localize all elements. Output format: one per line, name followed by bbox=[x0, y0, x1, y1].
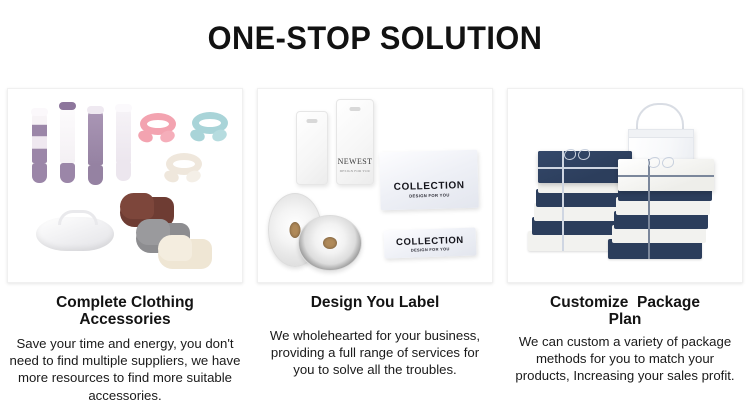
paper-bag-top-fold bbox=[629, 130, 693, 138]
paper-bag-handle bbox=[636, 103, 684, 131]
hang-tag-hole bbox=[307, 119, 318, 123]
cable-knit-sock-icon bbox=[60, 105, 75, 183]
eye-mask-icon bbox=[36, 217, 114, 251]
package-illustration bbox=[508, 89, 742, 282]
caption-title-accessories: Complete Clothing Accessories bbox=[10, 294, 240, 328]
lavender-sock-icon bbox=[116, 107, 131, 181]
white-box-ribbon-vertical bbox=[648, 159, 650, 259]
navy-box-ribbon-vertical bbox=[562, 151, 564, 251]
hang-tag-title: NEWEST bbox=[337, 157, 373, 166]
white-box-ribbon-horizontal bbox=[618, 175, 714, 177]
page-title: ONE-STOP SOLUTION bbox=[15, 18, 735, 58]
label-illustration: NEWEST DESIGN FOR YOU COLLECTION DESIGN … bbox=[258, 89, 492, 282]
caption-title-package: Customize Package Plan bbox=[510, 294, 740, 328]
textured-hang-tag bbox=[296, 111, 328, 185]
photo-card-accessories[interactable] bbox=[7, 88, 243, 283]
caption-body-accessories: Save your time and energy, you don't nee… bbox=[9, 335, 242, 404]
woven-collection-label: COLLECTION DESIGN FOR YOU bbox=[379, 150, 478, 211]
white-box-bow-icon bbox=[648, 157, 674, 168]
hang-tag-subtitle: DESIGN FOR YOU bbox=[337, 169, 373, 173]
hang-tag-hole bbox=[350, 107, 361, 111]
feature-columns: Complete Clothing Accessories Save your … bbox=[6, 88, 744, 404]
caption-body-label: We wholehearted for your business, provi… bbox=[259, 327, 492, 379]
navy-box-bow-icon bbox=[564, 149, 590, 160]
feature-column-label: NEWEST DESIGN FOR YOU COLLECTION DESIGN … bbox=[256, 88, 494, 379]
caption-body-package: We can custom a variety of package metho… bbox=[509, 333, 742, 385]
newest-hang-tag: NEWEST DESIGN FOR YOU bbox=[336, 99, 374, 185]
feature-column-package: Customize Package Plan We can custom a v… bbox=[506, 88, 744, 385]
accessories-illustration bbox=[8, 89, 242, 282]
roll-core bbox=[323, 237, 337, 249]
photo-card-package[interactable] bbox=[507, 88, 743, 283]
purple-knit-sock-icon bbox=[88, 109, 103, 185]
promo-banner: ONE-STOP SOLUTION bbox=[0, 0, 750, 418]
woven-collection-strip: COLLECTION DESIGN FOR YOU bbox=[384, 227, 477, 258]
cream-slipper-icon bbox=[158, 239, 212, 269]
feature-column-accessories: Complete Clothing Accessories Save your … bbox=[6, 88, 244, 404]
striped-sock-icon bbox=[32, 111, 47, 183]
caption-title-label: Design You Label bbox=[260, 294, 490, 311]
care-label-roll-front bbox=[298, 215, 362, 271]
photo-card-label[interactable]: NEWEST DESIGN FOR YOU COLLECTION DESIGN … bbox=[257, 88, 493, 283]
